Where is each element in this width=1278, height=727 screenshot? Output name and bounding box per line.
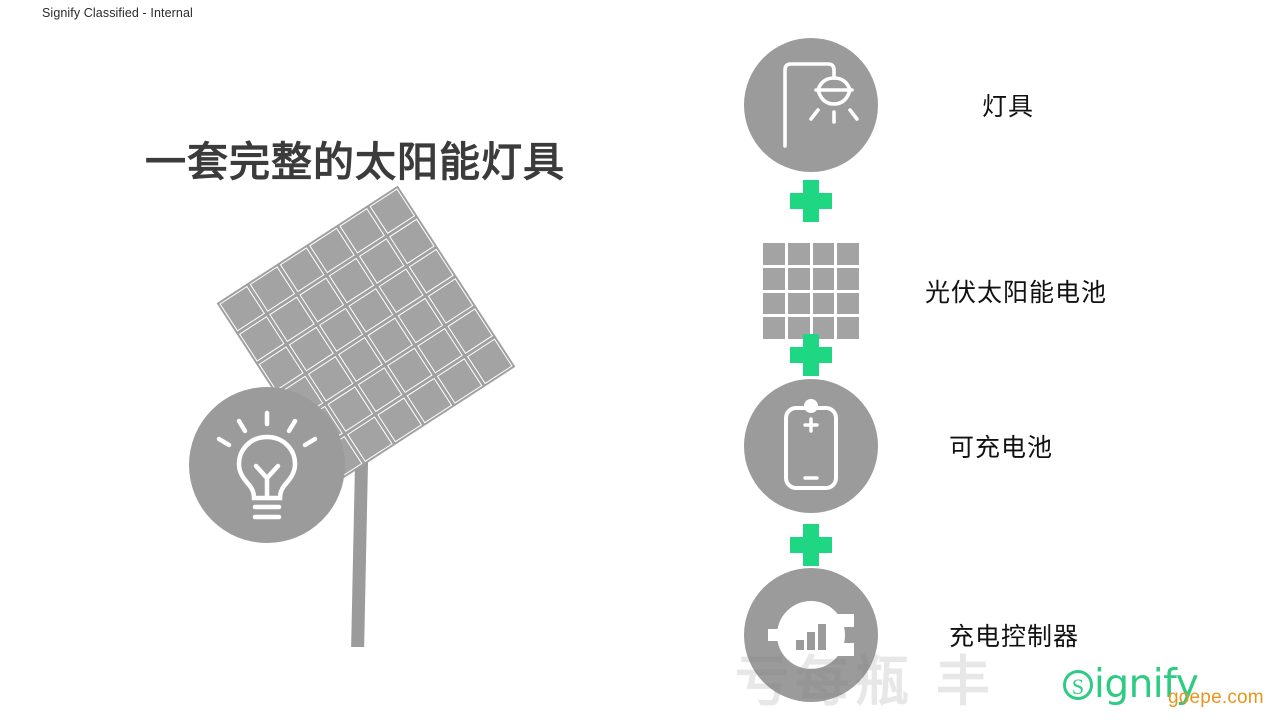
component-row-battery: 可充电池 xyxy=(744,379,1264,513)
classification-label: Signify Classified - Internal xyxy=(42,6,193,20)
pv-cell xyxy=(763,243,785,265)
component-row-luminaire: 灯具 xyxy=(744,38,1264,172)
pv-cell xyxy=(788,243,810,265)
charge-controller-icon xyxy=(744,568,878,702)
component-label-pv-panel: 光伏太阳能电池 xyxy=(925,273,1107,309)
goepe-watermark: goepe.com xyxy=(1168,687,1264,709)
plus-separator-icon xyxy=(790,334,832,376)
light-bulb-icon xyxy=(189,387,345,543)
pv-cell xyxy=(837,243,859,265)
plus-separator-icon xyxy=(790,524,832,566)
pv-cell xyxy=(837,268,859,290)
component-label-charge-controller: 充电控制器 xyxy=(949,617,1079,653)
slide-canvas: Signify Classified - Internal 一套完整的太阳能灯具 xyxy=(0,0,1278,727)
component-label-luminaire: 灯具 xyxy=(982,87,1034,123)
solar-street-light-illustration xyxy=(180,225,520,635)
pv-cell xyxy=(837,293,859,315)
plus-separator-icon xyxy=(790,180,832,222)
pv-cell xyxy=(813,293,835,315)
pv-cell xyxy=(788,293,810,315)
page-title: 一套完整的太阳能灯具 xyxy=(145,128,565,188)
pv-cell xyxy=(763,293,785,315)
charge-controller-icon-slot xyxy=(744,568,878,702)
pv-cell xyxy=(788,268,810,290)
pv-cell xyxy=(837,317,859,339)
component-stack: 灯具 xyxy=(744,34,1264,714)
pv-cell xyxy=(763,317,785,339)
component-label-battery: 可充电池 xyxy=(949,428,1053,464)
pv-cell xyxy=(813,268,835,290)
rechargeable-battery-icon xyxy=(744,379,878,513)
pv-cell xyxy=(813,243,835,265)
pv-panel-icon xyxy=(763,243,859,339)
battery-icon-slot xyxy=(744,379,878,513)
luminaire-icon-slot xyxy=(744,38,878,172)
street-luminaire-icon xyxy=(744,38,878,172)
signify-logo-mark: S xyxy=(1063,670,1093,700)
pv-cell xyxy=(763,268,785,290)
